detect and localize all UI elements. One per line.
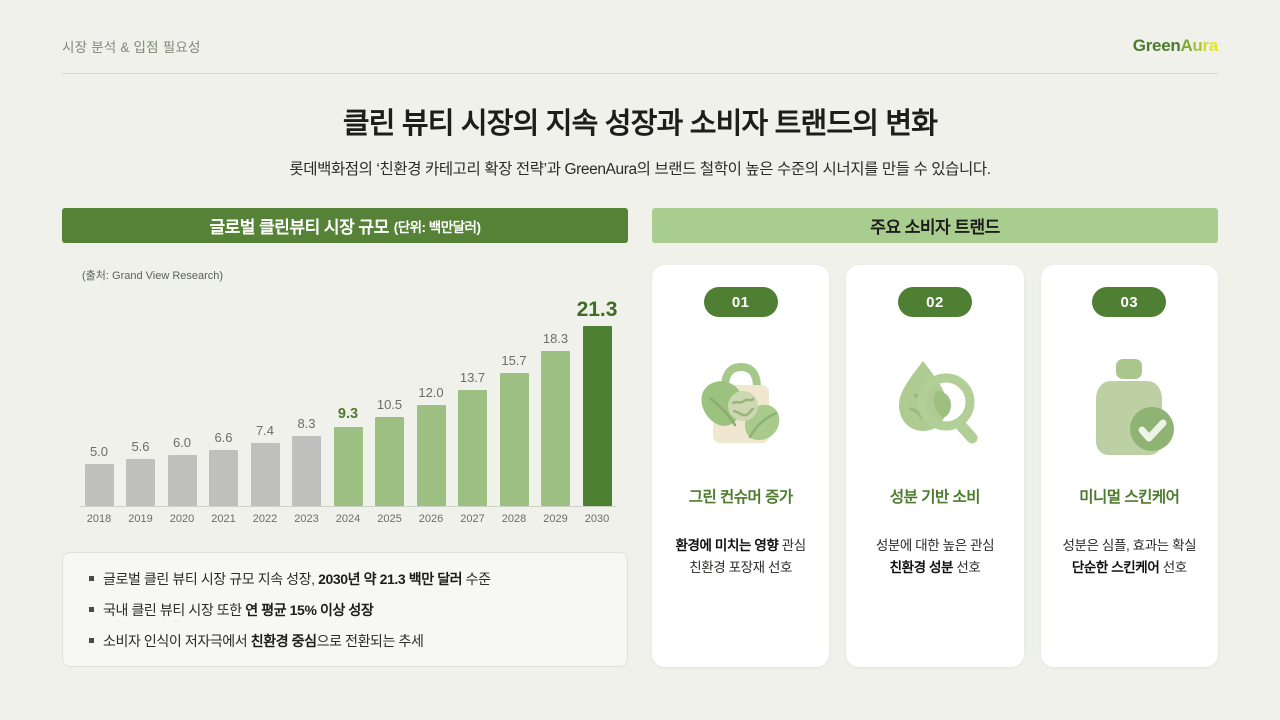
bar-value-label: 5.0 [90,444,108,459]
x-axis-tick-label: 2023 [288,513,326,525]
bar-column: 6.0 [163,435,201,506]
list-item: 국내 클린 뷰티 시장 또한 연 평균 15% 이상 성장 [85,600,605,620]
bar-column: 12.0 [412,385,450,506]
list-item-text: 소비자 인식이 저자극에서 친환경 중심으로 전환되는 추세 [103,631,423,651]
bar [375,417,404,506]
card-description: 성분은 심플, 효과는 확실단순한 스킨케어 선호 [1063,535,1197,580]
card-line-1: 성분은 심플, 효과는 확실 [1063,535,1197,557]
chart-panel-unit: (단위: 백만달러) [394,216,481,236]
x-axis-tick-label: 2020 [163,513,201,525]
card-line-1: 성분에 대한 높은 관심 [876,535,994,557]
card-number-badge: 02 [898,287,972,317]
trend-panel-header: 주요 소비자 트랜드 [652,208,1218,243]
chart-source: (출처: Grand View Research) [82,267,223,283]
list-item-text: 글로벌 클린 뷰티 시장 규모 지속 성장, 2030년 약 21.3 백만 달… [103,569,491,589]
x-axis-tick-label: 2029 [537,513,575,525]
bar [168,455,197,506]
card-line-2: 친환경 포장재 선호 [676,557,806,579]
page-subtitle: 롯데백화점의 ‘친환경 카테고리 확장 전략’과 GreenAura의 브랜드 … [0,157,1280,179]
chart-x-axis: 2018201920202021202220232024202520262027… [80,513,616,525]
bar-column: 15.7 [495,353,533,506]
bar-column: 5.0 [80,444,118,506]
bar [417,405,446,506]
logo-part-5: a [1209,36,1218,55]
insight-list: 글로벌 클린 뷰티 시장 규모 지속 성장, 2030년 약 21.3 백만 달… [62,552,628,667]
bar-column: 9.3 [329,406,367,506]
bar-value-label: 13.7 [460,370,485,385]
list-item: 소비자 인식이 저자극에서 친환경 중심으로 전환되는 추세 [85,631,605,651]
card-line-2: 친환경 성분 선호 [876,557,994,579]
market-size-bar-chart: (출처: Grand View Research) 5.05.66.06.67.… [62,255,628,540]
card-line-1: 환경에 미치는 영향 관심 [676,535,806,557]
slide: 시장 분석 & 입점 필요성 GreenAura 클린 뷰티 시장의 지속 성장… [0,0,1280,720]
x-axis-tick-label: 2030 [578,513,616,525]
card-title: 성분 기반 소비 [890,485,980,507]
logo-part-3: u [1192,36,1202,55]
chart-panel-title: 글로벌 클린뷰티 시장 규모 [210,213,389,238]
bar [458,390,487,506]
eco-shopping-bag-icon [681,323,801,483]
x-axis-tick-label: 2027 [454,513,492,525]
x-axis-tick-label: 2019 [122,513,160,525]
x-axis-tick-label: 2028 [495,513,533,525]
x-axis-tick-label: 2021 [205,513,243,525]
bar-column: 7.4 [246,423,284,506]
bar [292,436,321,506]
card-title: 미니멀 스킨케어 [1079,485,1179,507]
trend-card[interactable]: 02성분 기반 소비성분에 대한 높은 관심친환경 성분 선호 [846,265,1023,667]
bar-value-label: 5.6 [131,439,149,454]
bar [541,351,570,506]
chart-panel-header: 글로벌 클린뷰티 시장 규모 (단위: 백만달러) [62,208,628,243]
trend-card[interactable]: 03미니멀 스킨케어성분은 심플, 효과는 확실단순한 스킨케어 선호 [1041,265,1218,667]
trend-panel-title: 주요 소비자 트랜드 [870,213,1000,238]
bar-value-label: 7.4 [256,423,274,438]
bar-value-label: 21.3 [577,298,618,322]
bar [583,326,612,506]
bar-value-label: 10.5 [377,397,402,412]
card-number-badge: 01 [704,287,778,317]
breadcrumb: 시장 분석 & 입점 필요성 [62,36,201,56]
chart-plot-area: 5.05.66.06.67.48.39.310.512.013.715.718.… [80,285,616,507]
bar-value-label: 6.6 [214,430,232,445]
trend-card[interactable]: 01그린 컨슈머 증가환경에 미치는 영향 관심친환경 포장재 선호 [652,265,829,667]
bar-value-label: 9.3 [338,406,358,422]
x-axis-tick-label: 2026 [412,513,450,525]
bullet-square-icon [89,607,94,612]
leaf-magnifier-icon [875,323,995,483]
card-title: 그린 컨슈머 증가 [689,485,793,507]
bar [334,427,363,506]
list-item-text: 국내 클린 뷰티 시장 또한 연 평균 15% 이상 성장 [103,600,373,620]
bar-value-label: 12.0 [418,385,443,400]
trend-card-list: 01그린 컨슈머 증가환경에 미치는 영향 관심친환경 포장재 선호02성분 기… [652,265,1218,667]
x-axis-tick-label: 2022 [246,513,284,525]
bar-column: 10.5 [371,397,409,506]
bar [85,464,114,506]
card-line-2: 단순한 스킨케어 선호 [1063,557,1197,579]
x-axis-tick-label: 2018 [80,513,118,525]
bar-column: 13.7 [454,370,492,506]
bar-column: 21.3 [578,298,616,506]
bar [500,373,529,506]
bar-value-label: 15.7 [501,353,526,368]
bullet-square-icon [89,576,94,581]
bar-value-label: 6.0 [173,435,191,450]
logo-part-2: A [1180,36,1192,55]
bar [209,450,238,506]
brand-logo: GreenAura [1133,36,1218,56]
bar-column: 5.6 [122,439,160,506]
bar [251,443,280,506]
card-description: 환경에 미치는 영향 관심친환경 포장재 선호 [676,535,806,580]
card-number-badge: 03 [1092,287,1166,317]
x-axis-tick-label: 2024 [329,513,367,525]
logo-part-1: Green [1133,36,1181,55]
bar [126,459,155,506]
card-description: 성분에 대한 높은 관심친환경 성분 선호 [876,535,994,580]
bar-column: 8.3 [288,416,326,506]
bar-column: 18.3 [537,331,575,506]
bar-column: 6.6 [205,430,243,506]
bottle-check-icon [1069,323,1189,483]
x-axis-tick-label: 2025 [371,513,409,525]
bar-value-label: 18.3 [543,331,568,346]
list-item: 글로벌 클린 뷰티 시장 규모 지속 성장, 2030년 약 21.3 백만 달… [85,569,605,589]
slide-header: 시장 분석 & 입점 필요성 GreenAura [62,36,1218,74]
bullet-square-icon [89,638,94,643]
bar-value-label: 8.3 [297,416,315,431]
page-title: 클린 뷰티 시장의 지속 성장과 소비자 트랜드의 변화 [0,100,1280,142]
